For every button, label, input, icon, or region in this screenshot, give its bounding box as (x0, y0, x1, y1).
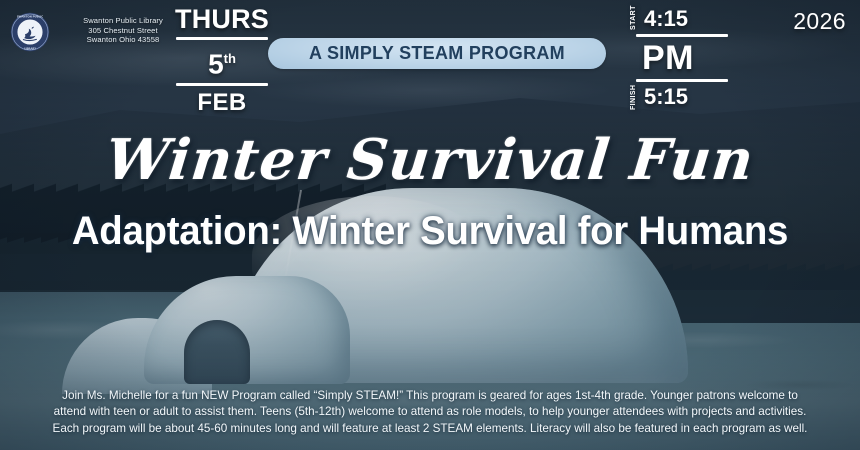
finish-time-value: 5:15 (644, 84, 732, 110)
start-time-label: START (630, 5, 637, 30)
time-meridiem: PM (642, 39, 732, 77)
time-divider-bottom (636, 79, 728, 82)
poster-header: SWANTON PUBLIC LIBRARY Swanton Public Li… (0, 0, 860, 112)
script-title: Winter Survival Fun (0, 128, 860, 192)
program-description: Join Ms. Michelle for a fun NEW Program … (14, 388, 846, 437)
event-time-block: START 4:15 PM FINISH 5:15 (622, 6, 732, 110)
start-time-row: START 4:15 (622, 6, 732, 32)
event-poster: SWANTON PUBLIC LIBRARY Swanton Public Li… (0, 0, 860, 450)
time-divider-top (636, 34, 728, 37)
start-time-value: 4:15 (644, 6, 732, 32)
page-title: Adaptation: Winter Survival for Humans (17, 206, 843, 256)
program-type-badge: A SIMPLY STEAM PROGRAM (268, 38, 606, 69)
date-day-digits: 5 (208, 48, 224, 79)
library-swan-seal-icon: SWANTON PUBLIC LIBRARY (10, 12, 50, 52)
event-date-block: THURS 5th FEB (168, 4, 276, 117)
description-line-3: Each program will be about 45-60 minutes… (14, 421, 846, 437)
svg-text:LIBRARY: LIBRARY (24, 46, 36, 50)
description-line-2: attend with teen or adult to assist them… (14, 404, 846, 420)
description-line-1: Join Ms. Michelle for a fun NEW Program … (14, 388, 846, 404)
finish-time-label: FINISH (630, 85, 637, 110)
date-month: FEB (168, 89, 276, 117)
finish-time-row: FINISH 5:15 (622, 84, 732, 110)
program-type-badge-label: A SIMPLY STEAM PROGRAM (309, 43, 565, 64)
svg-text:SWANTON PUBLIC: SWANTON PUBLIC (17, 15, 43, 19)
event-year: 2026 (793, 8, 846, 35)
date-divider-bottom (176, 83, 268, 86)
date-divider-top (176, 37, 268, 40)
date-day-of-week: THURS (168, 4, 276, 34)
date-day-number: 5th (168, 43, 276, 80)
date-ordinal-suffix: th (224, 51, 236, 66)
